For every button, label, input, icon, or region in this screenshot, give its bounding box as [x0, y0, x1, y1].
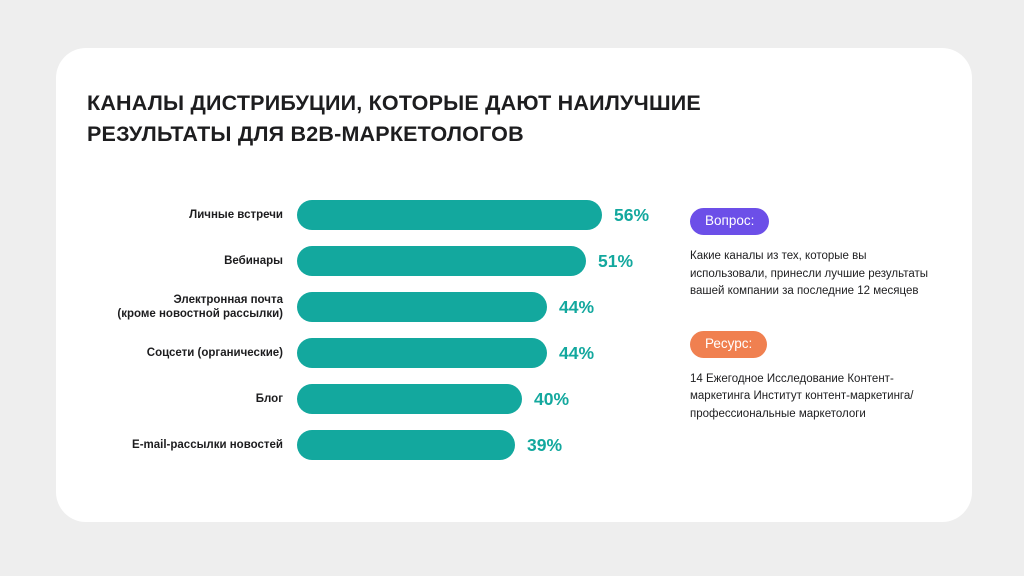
- bar-label-0-line-0: Личные встречи: [87, 208, 283, 222]
- chart-card: КАНАЛЫ ДИСТРИБУЦИИ, КОТОРЫЕ ДАЮТ НАИЛУЧШ…: [56, 48, 972, 522]
- bar-label-2: Электронная почта (кроме новостной рассы…: [87, 293, 297, 321]
- bar-area-2: 44%: [297, 292, 697, 322]
- bar-label-4: Блог: [87, 392, 297, 406]
- bar-area-4: 40%: [297, 384, 697, 414]
- bar-label-5-line-0: E-mail-рассылки новостей: [87, 438, 283, 452]
- resource-badge: Ресурс:: [690, 331, 767, 358]
- bar-3: [297, 338, 547, 368]
- resource-panel: Ресурс: 14 Ежегодное Исследование Контен…: [690, 331, 940, 424]
- bar-value-4: 40%: [534, 389, 569, 410]
- page-title-line-2: РЕЗУЛЬТАТЫ ДЛЯ B2B-МАРКЕТОЛОГОВ: [87, 119, 807, 150]
- bar-row: Соцсети (органические) 44%: [87, 338, 697, 368]
- bar-5: [297, 430, 515, 460]
- bar-value-5: 39%: [527, 435, 562, 456]
- bar-value-3: 44%: [559, 343, 594, 364]
- bar-area-5: 39%: [297, 430, 697, 460]
- bar-label-1: Вебинары: [87, 254, 297, 268]
- bar-area-3: 44%: [297, 338, 697, 368]
- page-title-line-1: КАНАЛЫ ДИСТРИБУЦИИ, КОТОРЫЕ ДАЮТ НАИЛУЧШ…: [87, 88, 807, 119]
- bar-row: Вебинары 51%: [87, 246, 697, 276]
- bar-label-3: Соцсети (органические): [87, 346, 297, 360]
- bar-label-2-line-0: Электронная почта: [87, 293, 283, 307]
- question-panel: Вопрос: Какие каналы из тех, которые вы …: [690, 208, 940, 301]
- bar-row: Блог 40%: [87, 384, 697, 414]
- bar-label-1-line-0: Вебинары: [87, 254, 283, 268]
- bar-4: [297, 384, 522, 414]
- bar-area-1: 51%: [297, 246, 697, 276]
- bar-area-0: 56%: [297, 200, 697, 230]
- bar-row: Электронная почта (кроме новостной рассы…: [87, 292, 697, 322]
- question-badge: Вопрос:: [690, 208, 769, 235]
- bar-chart: Личные встречи 56% Вебинары 51% Элек: [87, 200, 697, 476]
- bar-value-2: 44%: [559, 297, 594, 318]
- bar-label-2-line-1: (кроме новостной рассылки): [87, 307, 283, 321]
- question-text: Какие каналы из тех, которые вы использо…: [690, 248, 940, 301]
- bar-value-1: 51%: [598, 251, 633, 272]
- bar-row: E-mail-рассылки новостей 39%: [87, 430, 697, 460]
- bar-0: [297, 200, 602, 230]
- resource-text: 14 Ежегодное Исследование Контент-маркет…: [690, 371, 940, 424]
- page-title: КАНАЛЫ ДИСТРИБУЦИИ, КОТОРЫЕ ДАЮТ НАИЛУЧШ…: [87, 88, 807, 150]
- side-panels: Вопрос: Какие каналы из тех, которые вы …: [690, 208, 940, 453]
- infographic-page: КАНАЛЫ ДИСТРИБУЦИИ, КОТОРЫЕ ДАЮТ НАИЛУЧШ…: [0, 0, 1024, 576]
- bar-row: Личные встречи 56%: [87, 200, 697, 230]
- bar-label-3-line-0: Соцсети (органические): [87, 346, 283, 360]
- bar-value-0: 56%: [614, 205, 649, 226]
- bar-label-5: E-mail-рассылки новостей: [87, 438, 297, 452]
- bar-2: [297, 292, 547, 322]
- bar-label-4-line-0: Блог: [87, 392, 283, 406]
- bar-1: [297, 246, 586, 276]
- bar-label-0: Личные встречи: [87, 208, 297, 222]
